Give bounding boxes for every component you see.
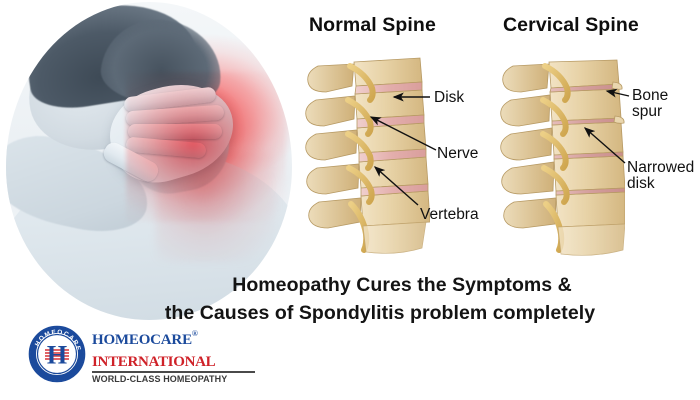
- normal-spine-title: Normal Spine: [309, 14, 436, 37]
- logo-wordmark: Homeocare® International WORLD-CLASS HOM…: [92, 327, 258, 384]
- neck-pain-photo: [6, 2, 292, 320]
- cervical-spine-title: Cervical Spine: [503, 14, 639, 37]
- logo-brand-line-1: Homeocare®: [92, 327, 258, 348]
- logo-brand-line-2: International: [92, 348, 258, 370]
- logo-badge-icon: HOMEOCARE INTERNATIONAL H: [28, 325, 86, 383]
- normal-spine-illustration: [300, 52, 430, 260]
- svg-text:H: H: [47, 341, 67, 370]
- label-bone-spur-line2: spur: [632, 104, 668, 120]
- registered-mark-icon: ®: [192, 329, 198, 338]
- tagline-line-2: the Causes of Spondylitis problem comple…: [0, 302, 700, 325]
- poster-canvas: Normal Spine Cervical Spine: [0, 0, 700, 400]
- photo-finger: [128, 124, 222, 139]
- logo-tagline: WORLD-CLASS HOMEOPATHY: [92, 374, 258, 384]
- photo-circular-mask: [6, 2, 292, 320]
- homeocare-logo[interactable]: HOMEOCARE INTERNATIONAL H Homeocare® Int…: [28, 325, 258, 387]
- label-narrowed-disk-line2: disk: [627, 176, 694, 192]
- label-bone-spur: Bone spur: [632, 88, 668, 121]
- logo-brand-line-1-text: Homeocare: [92, 325, 192, 349]
- label-nerve: Nerve: [437, 146, 478, 162]
- cervical-spine-illustration: [495, 52, 625, 260]
- tagline-line-1: Homeopathy Cures the Symptoms &: [0, 274, 700, 297]
- label-vertebra: Vertebra: [420, 207, 479, 223]
- label-narrowed-disk: Narrowed disk: [627, 160, 694, 193]
- label-bone-spur-line1: Bone: [632, 88, 668, 104]
- label-disk: Disk: [434, 90, 464, 106]
- label-narrowed-disk-line1: Narrowed: [627, 160, 694, 176]
- logo-divider: [92, 371, 255, 373]
